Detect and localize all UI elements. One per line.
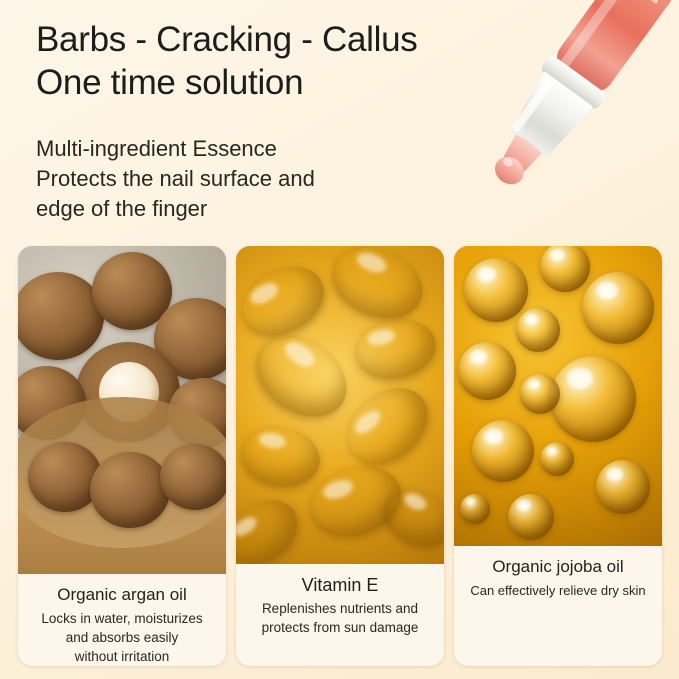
subheadline: Multi-ingredient Essence Protects the na… <box>36 134 436 224</box>
vitamin-e-caption: Vitamin E Replenishes nutrients and prot… <box>236 564 444 666</box>
argan-oil-caption: Organic argan oil Locks in water, moistu… <box>18 574 226 666</box>
vitamin-e-photo <box>236 246 444 564</box>
vitamin-e-desc-line-1: Replenishes nutrients and <box>244 599 436 618</box>
jojoba-oil-description: Can effectively relieve dry skin <box>462 581 654 600</box>
ingredient-card-vitamin-e: Vitamin E Replenishes nutrients and prot… <box>236 246 444 666</box>
argan-oil-photo <box>18 246 226 574</box>
argan-oil-desc-line-1: Locks in water, moisturizes <box>26 609 218 628</box>
argan-oil-title: Organic argan oil <box>26 584 218 606</box>
headline: Barbs - Cracking - Callus One time solut… <box>36 18 556 104</box>
headline-line-1: Barbs - Cracking - Callus <box>36 18 556 61</box>
subheadline-line-1: Multi-ingredient Essence <box>36 134 436 164</box>
subheadline-line-3: edge of the finger <box>36 194 436 224</box>
product-poster: Barbs - Cracking - Callus One time solut… <box>0 0 679 679</box>
jojoba-oil-caption: Organic jojoba oil Can effectively relie… <box>454 546 662 666</box>
argan-oil-desc-line-2: and absorbs easily <box>26 628 218 647</box>
ingredient-card-argan-oil: Organic argan oil Locks in water, moistu… <box>18 246 226 666</box>
vitamin-e-description: Replenishes nutrients and protects from … <box>244 599 436 637</box>
jojoba-oil-photo <box>454 246 662 546</box>
subheadline-line-2: Protects the nail surface and <box>36 164 436 194</box>
argan-oil-desc-line-3: without irritation <box>26 647 218 666</box>
vitamin-e-desc-line-2: protects from sun damage <box>244 618 436 637</box>
ingredient-card-list: Organic argan oil Locks in water, moistu… <box>18 246 663 666</box>
ingredient-card-jojoba-oil: Organic jojoba oil Can effectively relie… <box>454 246 662 666</box>
jojoba-oil-title: Organic jojoba oil <box>462 556 654 578</box>
vitamin-e-title: Vitamin E <box>244 574 436 596</box>
argan-oil-description: Locks in water, moisturizes and absorbs … <box>26 609 218 666</box>
jojoba-oil-desc-line-1: Can effectively relieve dry skin <box>462 581 654 600</box>
headline-line-2: One time solution <box>36 61 556 104</box>
